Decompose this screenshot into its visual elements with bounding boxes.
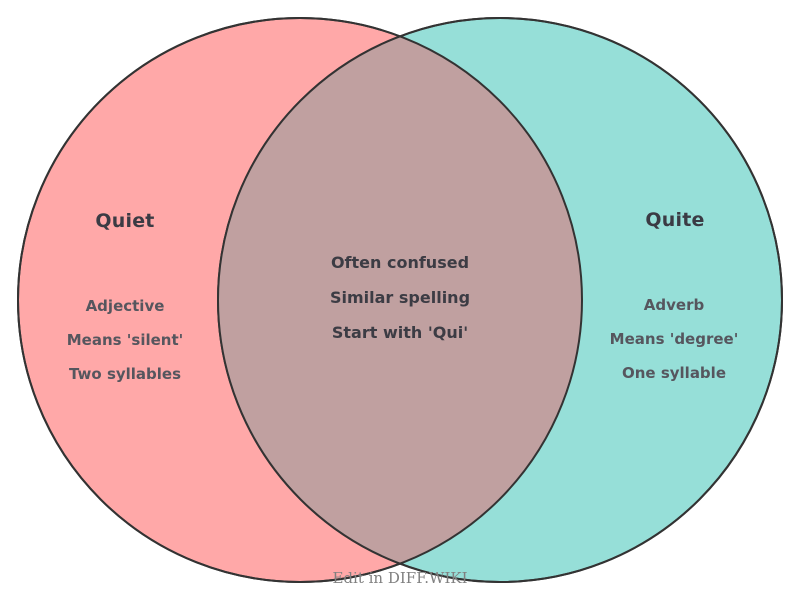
set-items-intersection: Often confused Similar spelling Start wi… bbox=[300, 245, 500, 350]
list-item: Adjective bbox=[25, 289, 225, 323]
list-item: Often confused bbox=[300, 245, 500, 280]
list-item: Means 'silent' bbox=[25, 323, 225, 357]
set-items-right: Adverb Means 'degree' One syllable bbox=[574, 288, 774, 390]
list-item: Similar spelling bbox=[300, 280, 500, 315]
venn-diagram-canvas: Quiet Adjective Means 'silent' Two sylla… bbox=[0, 0, 800, 600]
set-items-left: Adjective Means 'silent' Two syllables bbox=[25, 289, 225, 391]
set-title-left: Quiet bbox=[25, 210, 225, 232]
list-item: One syllable bbox=[574, 356, 774, 390]
edit-link[interactable]: Edit in DIFF.WIKI bbox=[0, 569, 800, 587]
list-item: Adverb bbox=[574, 288, 774, 322]
list-item: Start with 'Qui' bbox=[300, 315, 500, 350]
set-title-right: Quite bbox=[575, 209, 775, 231]
list-item: Two syllables bbox=[25, 357, 225, 391]
list-item: Means 'degree' bbox=[574, 322, 774, 356]
